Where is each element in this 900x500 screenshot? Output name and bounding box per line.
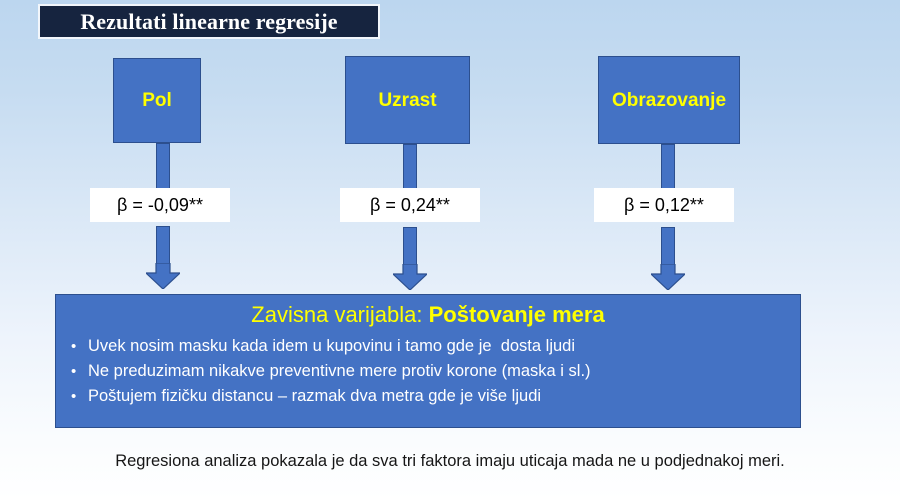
beta-label-pol: β = -0,09** [90,188,230,222]
list-item: •Poštujem fizičku distancu – razmak dva … [88,384,790,409]
list-item: •Uvek nosim masku kada idem u kupovinu i… [88,334,790,359]
dependent-variable-heading-prefix: Zavisna varijabla: [251,302,428,327]
beta-label-uzrast: β = 0,24** [340,188,480,222]
arrow-head-outline [146,263,180,289]
arrow-shaft-upper [661,144,675,190]
slide-canvas: Rezultati linearne regresije Pol Uzrast … [0,0,900,500]
dependent-variable-item-list: •Uvek nosim masku kada idem u kupovinu i… [66,334,790,409]
bullet-icon: • [71,384,76,409]
list-item-text: Poštujem fizičku distancu – razmak dva m… [88,387,541,405]
dependent-variable-box: Zavisna varijabla: Poštovanje mera •Uvek… [55,294,801,428]
arrow-shaft-lower [156,226,170,266]
slide-title-banner: Rezultati linearne regresije [38,4,380,39]
predictor-box-obrazovanje: Obrazovanje [598,56,740,144]
predictor-label: Obrazovanje [612,91,726,110]
slide-caption: Regresiona analiza pokazala je da sva tr… [0,452,900,471]
list-item: •Ne preduzimam nikakve preventivne mere … [88,359,790,384]
predictor-label: Pol [142,91,172,110]
predictor-box-uzrast: Uzrast [345,56,470,144]
predictor-box-pol: Pol [113,58,201,143]
bullet-icon: • [71,334,76,359]
list-item-text: Ne preduzimam nikakve preventivne mere p… [88,362,591,380]
beta-label-obrazovanje: β = 0,12** [594,188,734,222]
dependent-variable-heading-emphasis: Poštovanje mera [429,302,605,327]
page-title: Rezultati linearne regresije [80,9,337,35]
arrow-head-outline [651,264,685,290]
arrow-head-outline [393,264,427,290]
arrow-shaft-upper [156,143,170,189]
bullet-icon: • [71,359,76,384]
list-item-text: Uvek nosim masku kada idem u kupovinu i … [88,337,575,355]
arrow-shaft-lower [661,227,675,267]
predictor-label: Uzrast [378,91,436,110]
arrow-shaft-lower [403,227,417,267]
arrow-shaft-upper [403,144,417,190]
dependent-variable-heading: Zavisna varijabla: Poštovanje mera [66,301,790,329]
